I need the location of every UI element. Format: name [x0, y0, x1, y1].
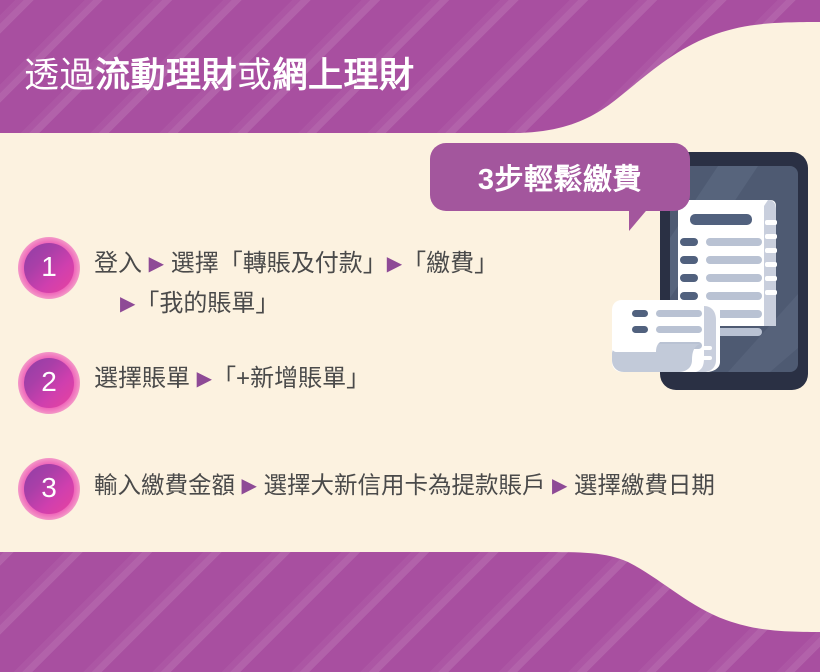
step-3-line-1: 輸入繳費金額 ▶ 選擇大新信用卡為提款賬戶 ▶ 選擇繳費日期	[94, 465, 715, 506]
step-item-1: 1 登入 ▶ 選擇「轉賬及付款」▶「繳費」 ▶「我的賬單」	[18, 237, 498, 324]
step-arrow-icon: ▶	[120, 293, 135, 315]
step-number-badge-2: 2	[18, 352, 80, 414]
step-2-line-1: 選擇賬單 ▶「+新增賬單」	[94, 359, 370, 399]
step-1-line-1: 登入 ▶ 選擇「轉賬及付款」▶「繳費」	[94, 244, 498, 284]
step-body-2: 選擇賬單 ▶「+新增賬單」	[94, 352, 370, 399]
step-number-2: 2	[41, 368, 57, 398]
step-number-badge-1: 1	[18, 237, 80, 299]
step-body-1: 登入 ▶ 選擇「轉賬及付款」▶「繳費」 ▶「我的賬單」	[94, 237, 498, 324]
steps-count-badge-tail-icon	[629, 205, 657, 231]
step-arrow-icon: ▶	[197, 368, 212, 390]
step-number-1: 1	[41, 253, 57, 283]
steps-count-badge-label: 3步輕鬆繳費	[478, 156, 642, 198]
step-1-line-2: ▶「我的賬單」	[94, 284, 498, 324]
step-number-3: 3	[41, 474, 57, 504]
step-arrow-icon: ▶	[242, 475, 257, 497]
step-arrow-icon: ▶	[552, 475, 567, 497]
step-item-3: 3 輸入繳費金額 ▶ 選擇大新信用卡為提款賬戶 ▶ 選擇繳費日期	[18, 458, 715, 520]
step-item-2: 2 選擇賬單 ▶「+新增賬單」	[18, 352, 370, 414]
steps-list: 1 登入 ▶ 選擇「轉賬及付款」▶「繳費」 ▶「我的賬單」 2 選擇賬單 ▶「+…	[0, 0, 820, 672]
step-number-badge-3: 3	[18, 458, 80, 520]
step-arrow-icon: ▶	[387, 253, 402, 275]
steps-count-badge: 3步輕鬆繳費	[430, 143, 690, 211]
step-body-3: 輸入繳費金額 ▶ 選擇大新信用卡為提款賬戶 ▶ 選擇繳費日期	[94, 458, 715, 506]
infographic-canvas: 透過流動理財或網上理財	[0, 0, 820, 672]
step-arrow-icon: ▶	[149, 253, 164, 275]
